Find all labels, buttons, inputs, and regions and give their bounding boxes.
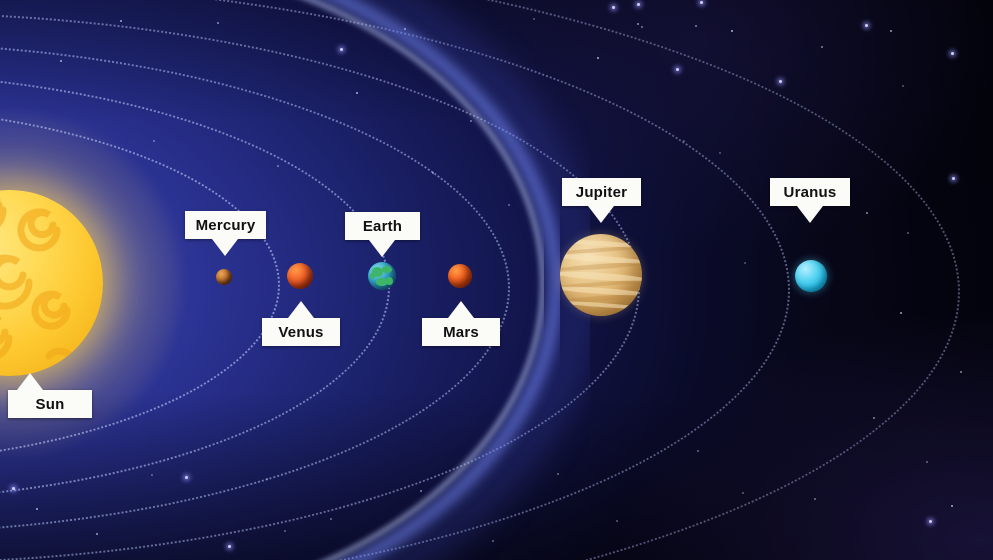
solar-system-diagram: SunMercuryVenusEarthMarsJupiterUranus [0, 0, 993, 560]
label-pointer-down [797, 206, 823, 223]
sun-swirl-pattern [0, 190, 103, 376]
label-pointer-down [588, 206, 614, 223]
label-mars[interactable]: Mars [422, 318, 500, 346]
label-pointer-down [212, 239, 238, 256]
label-pointer-up [17, 373, 43, 390]
label-text: Sun [36, 396, 65, 413]
label-sun[interactable]: Sun [8, 390, 92, 418]
label-pointer-up [448, 301, 474, 318]
planet-mercury[interactable] [216, 269, 232, 285]
earth-landmass [370, 273, 375, 279]
label-text: Mars [443, 324, 479, 341]
earth-landmass [382, 266, 392, 273]
planet-venus[interactable] [287, 263, 313, 289]
label-pointer-up [288, 301, 314, 318]
label-jupiter[interactable]: Jupiter [562, 178, 641, 206]
earth-landmass [386, 277, 393, 285]
earth-surface [368, 262, 396, 290]
label-pointer-down [369, 240, 395, 257]
planet-sun[interactable] [0, 190, 103, 376]
sun-surface [0, 190, 103, 376]
label-text: Earth [363, 218, 402, 235]
label-text: Jupiter [576, 184, 627, 201]
label-mercury[interactable]: Mercury [185, 211, 266, 239]
planet-mars[interactable] [448, 264, 472, 288]
label-text: Uranus [784, 184, 837, 201]
planet-earth[interactable] [368, 262, 396, 290]
label-text: Venus [278, 324, 323, 341]
label-earth[interactable]: Earth [345, 212, 420, 240]
label-text: Mercury [196, 217, 256, 234]
jupiter-surface [560, 234, 642, 316]
label-uranus[interactable]: Uranus [770, 178, 850, 206]
label-venus[interactable]: Venus [262, 318, 340, 346]
planet-uranus[interactable] [795, 260, 827, 292]
planet-jupiter[interactable] [560, 234, 642, 316]
